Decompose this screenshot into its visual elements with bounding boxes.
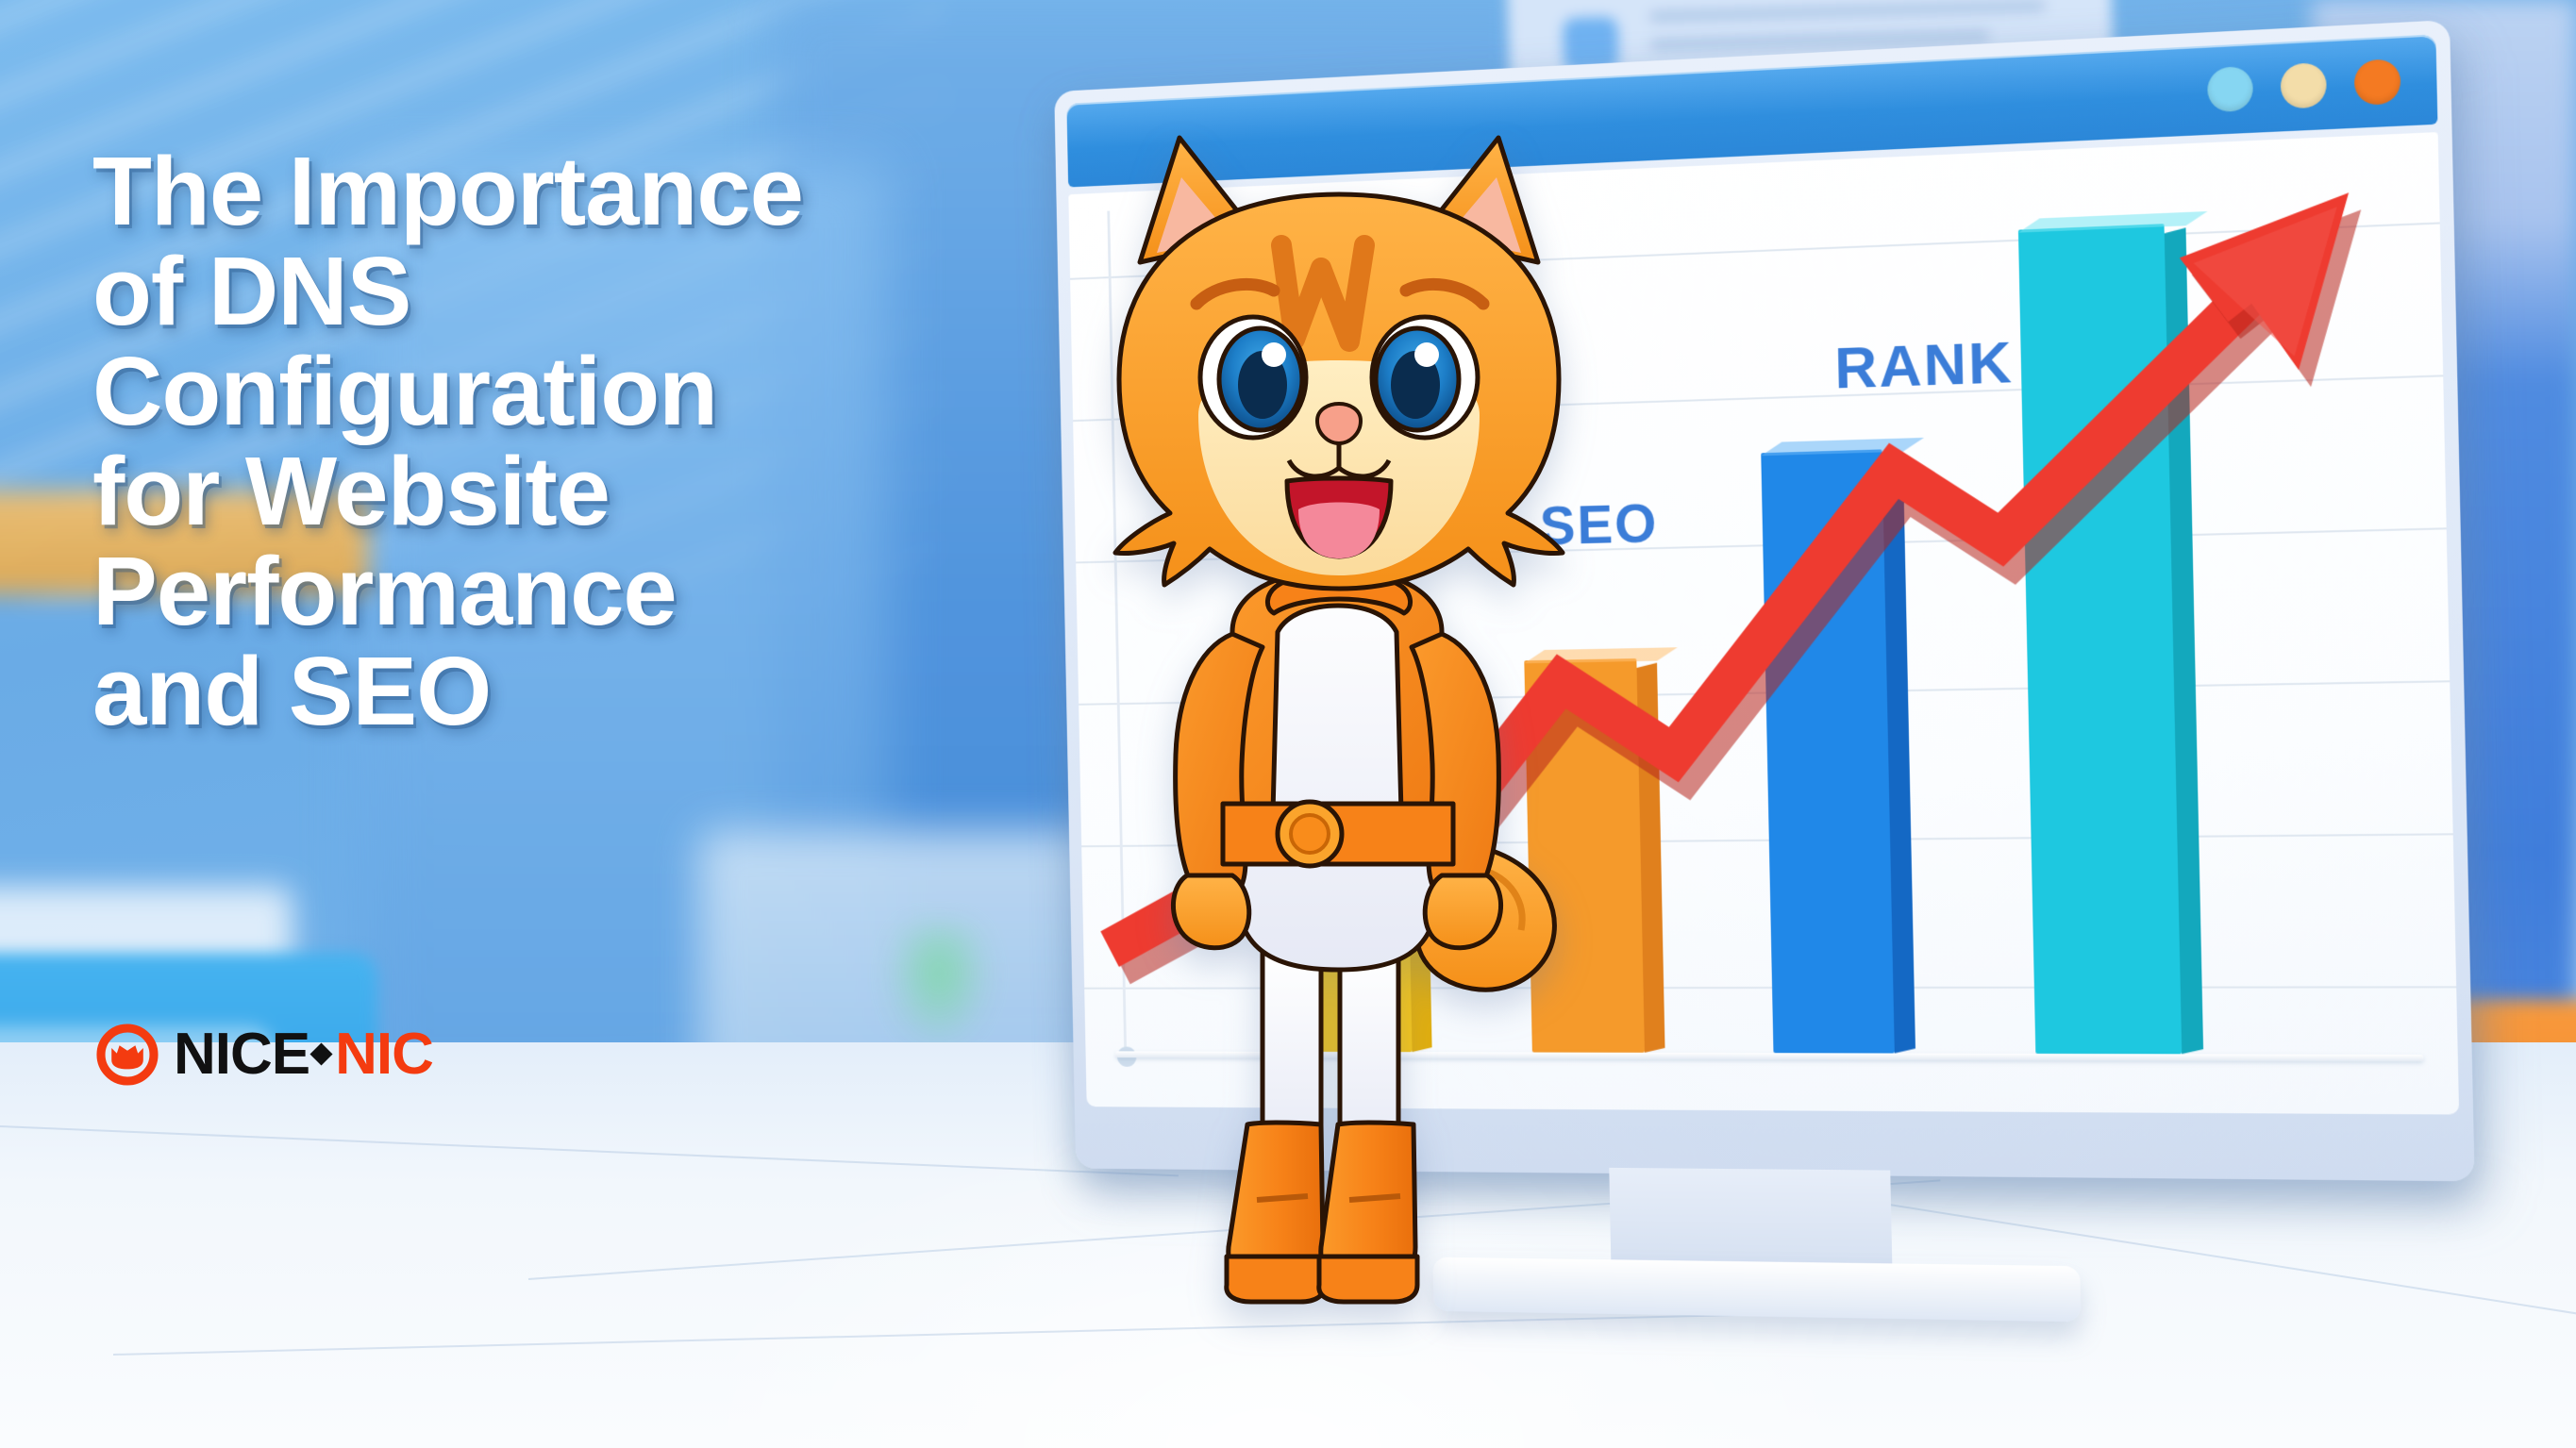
minimize-button[interactable] [2207, 66, 2253, 113]
title-line-4: for Website [92, 441, 1093, 541]
mascot-superhero-cat [1038, 104, 1642, 1368]
nicenic-logo[interactable]: NICE NIC [94, 1021, 433, 1088]
logo-wordmark: NICE NIC [174, 1021, 433, 1088]
logo-word-nice: NICE [174, 1021, 309, 1088]
title-line-2: of DNS [92, 241, 1093, 341]
logo-word-nic: NIC [335, 1021, 433, 1088]
page-title: The Importance of DNS Configuration for … [92, 141, 1093, 741]
close-button[interactable] [2354, 58, 2401, 106]
diamond-dot-icon [310, 1042, 333, 1065]
poster-canvas: SEO SEO RANK [0, 0, 2576, 1448]
title-line-6: and SEO [92, 641, 1093, 741]
chart-label-rank: RANK [1834, 328, 2015, 402]
background-plant [887, 924, 991, 1047]
title-line-5: Performance [92, 541, 1093, 641]
maximize-button[interactable] [2281, 62, 2328, 109]
chart-bar-3 [2018, 224, 2182, 1054]
mascot-boots [1227, 1123, 1417, 1302]
title-line-1: The Importance [92, 141, 1093, 241]
window-controls[interactable] [2207, 58, 2401, 112]
chart-bar-2 [1761, 449, 1895, 1053]
title-line-3: Configuration [92, 341, 1093, 441]
cat-head-in-circle-icon [94, 1022, 160, 1088]
mascot-head [1115, 138, 1563, 589]
